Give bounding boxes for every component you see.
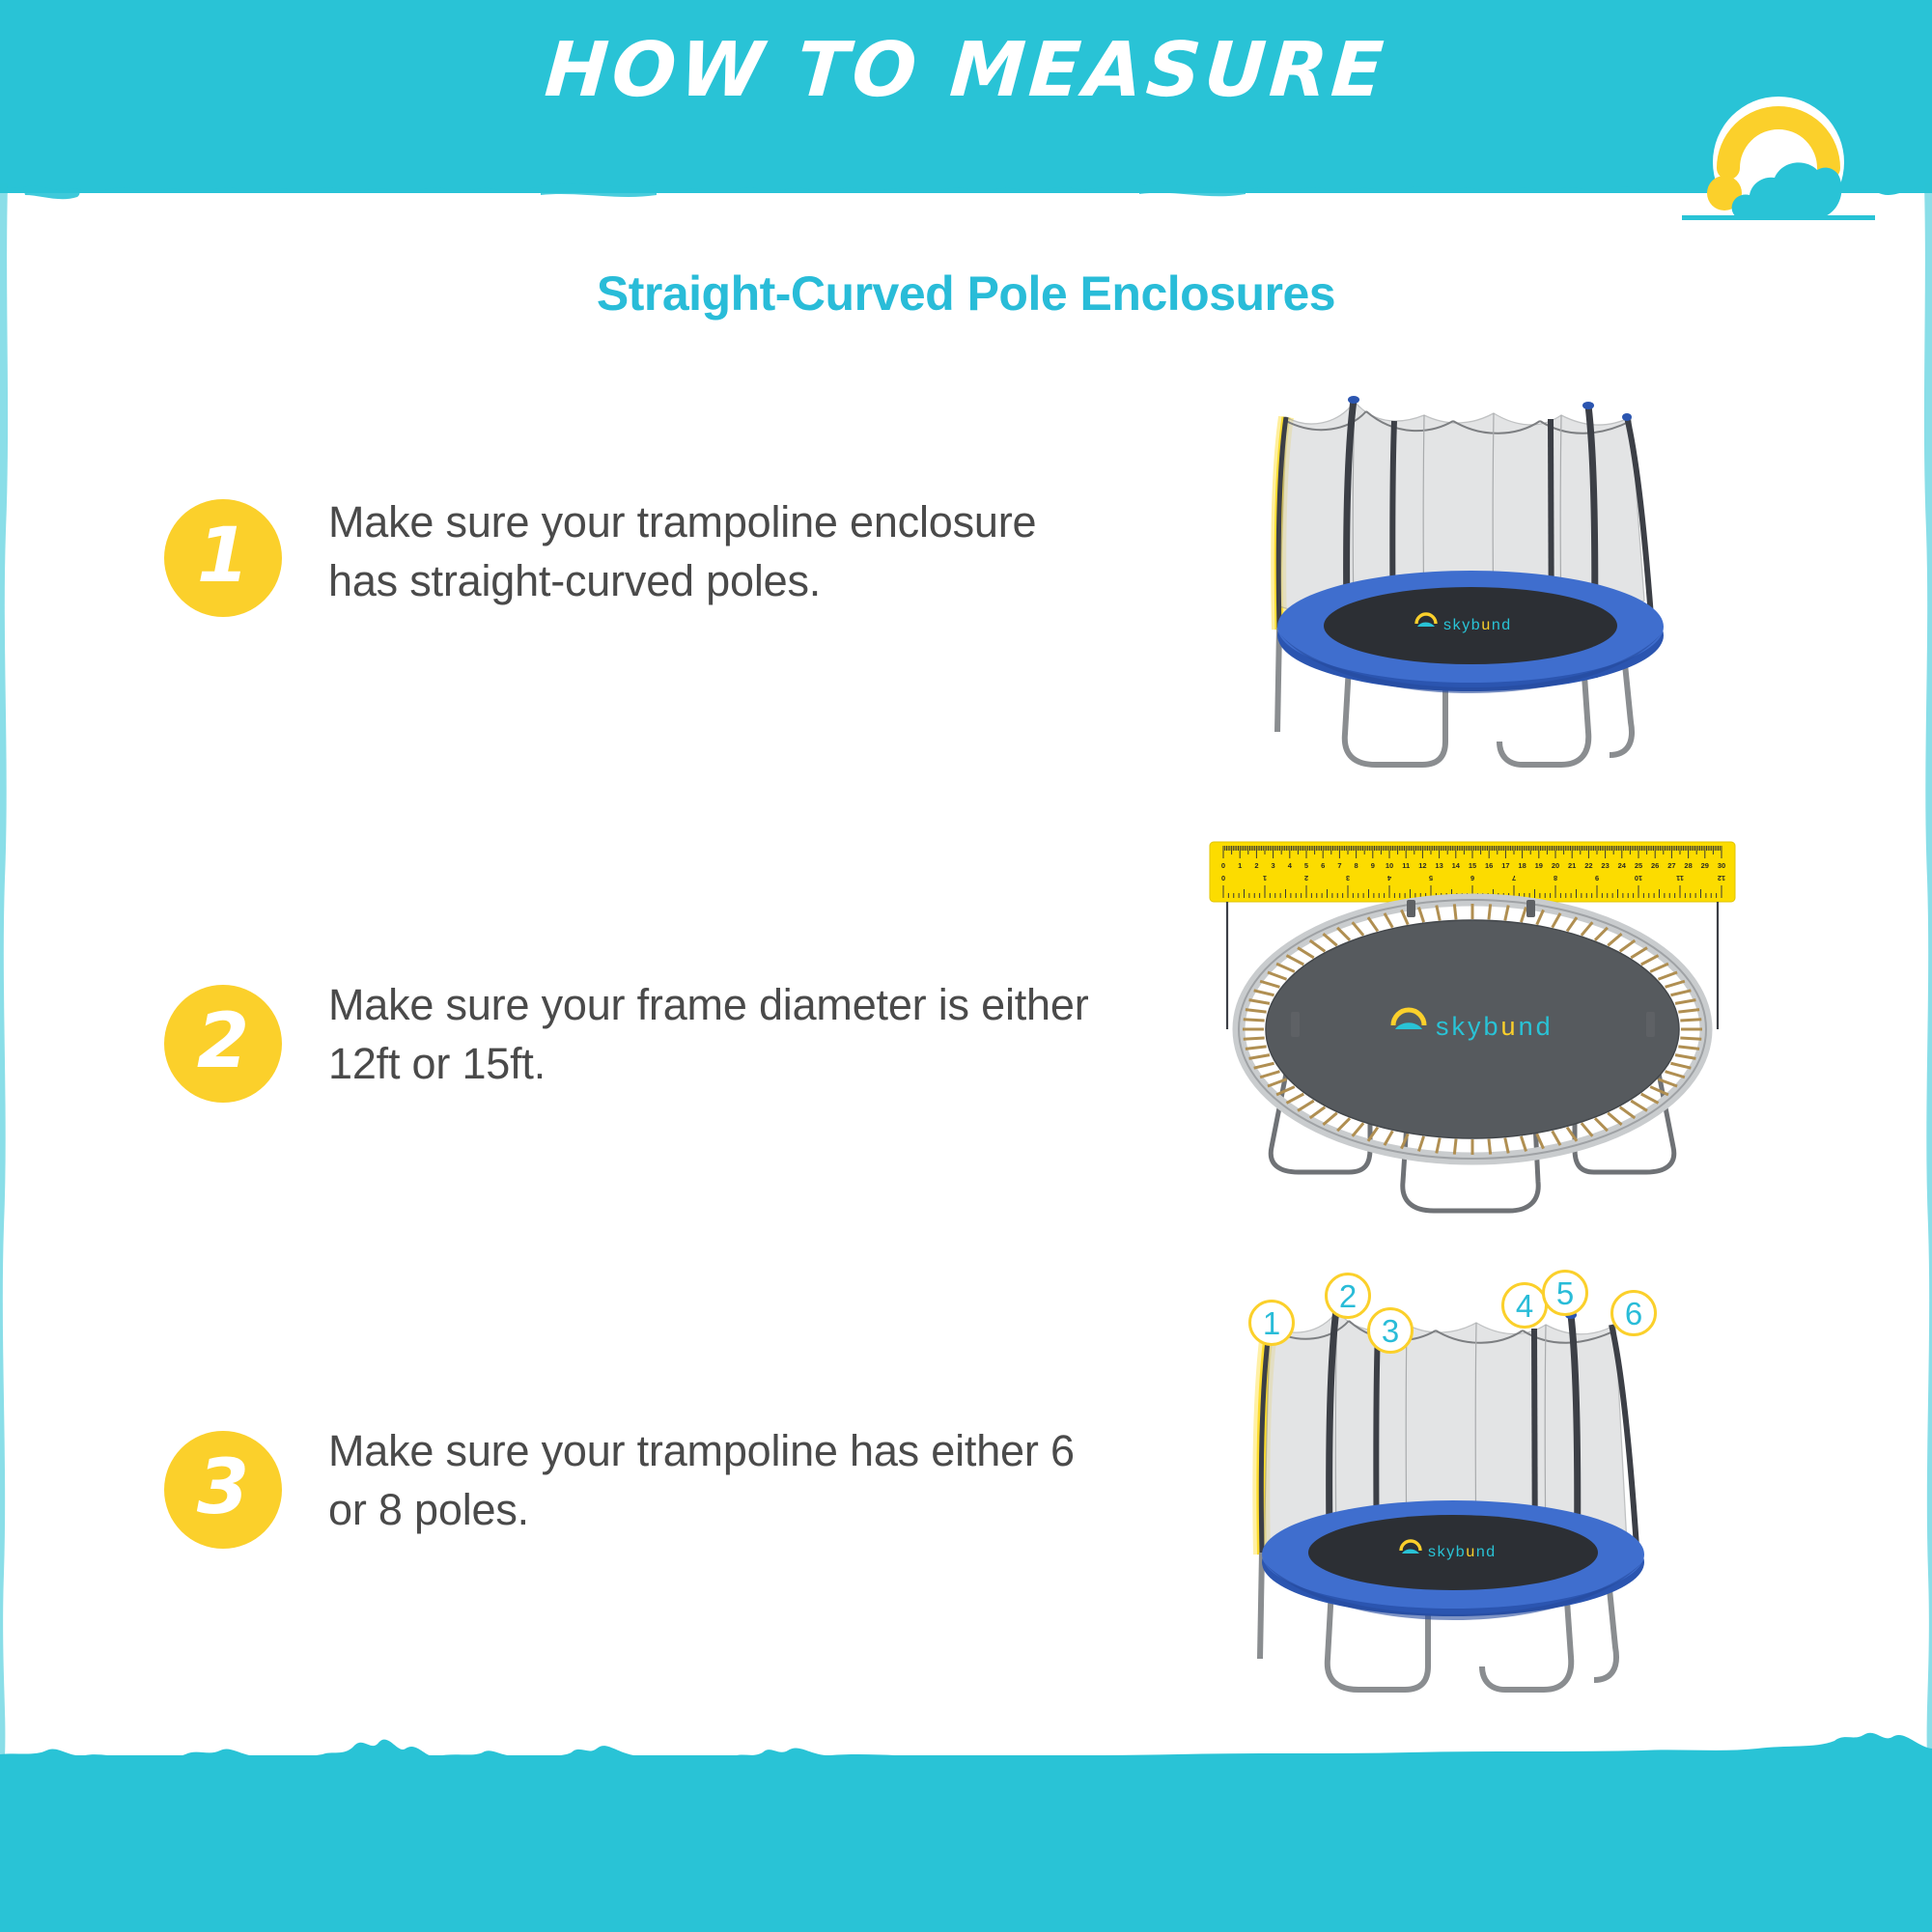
pole-marker-group: 123456 bbox=[1231, 1265, 1733, 1748]
svg-text:26: 26 bbox=[1651, 861, 1659, 870]
skybound-rainbow-cloud-logo bbox=[1682, 85, 1875, 220]
ruler-icon: 0123456789101112131415161718192021222324… bbox=[1210, 842, 1735, 902]
svg-text:7: 7 bbox=[1512, 874, 1516, 882]
step-1-text: Make sure your trampoline enclosure has … bbox=[328, 492, 1101, 610]
svg-text:21: 21 bbox=[1568, 861, 1576, 870]
step-3-badge: 3 bbox=[164, 1431, 282, 1549]
pole-marker-5: 5 bbox=[1542, 1270, 1588, 1316]
svg-text:12: 12 bbox=[1418, 861, 1426, 870]
svg-text:19: 19 bbox=[1535, 861, 1543, 870]
trampoline-enclosure-illustration: skybund bbox=[1241, 386, 1714, 811]
section-subtitle: Straight-Curved Pole Enclosures bbox=[0, 266, 1932, 322]
svg-text:5: 5 bbox=[1429, 874, 1433, 882]
svg-text:10: 10 bbox=[1386, 861, 1393, 870]
svg-text:15: 15 bbox=[1469, 861, 1476, 870]
svg-text:5: 5 bbox=[1304, 861, 1308, 870]
svg-text:28: 28 bbox=[1684, 861, 1692, 870]
svg-text:9: 9 bbox=[1595, 874, 1599, 882]
bottom-teal-band bbox=[0, 1755, 1932, 1932]
ruler-and-mat-illustration: 0123456789101112131415161718192021222324… bbox=[1202, 840, 1743, 1246]
svg-text:8: 8 bbox=[1355, 861, 1358, 870]
svg-text:22: 22 bbox=[1584, 861, 1592, 870]
svg-text:29: 29 bbox=[1701, 861, 1709, 870]
svg-text:2: 2 bbox=[1254, 861, 1258, 870]
step-2-badge: 2 bbox=[164, 985, 282, 1103]
svg-text:11: 11 bbox=[1402, 861, 1410, 870]
svg-text:skybund: skybund bbox=[1436, 1012, 1554, 1041]
pole-marker-4: 4 bbox=[1501, 1282, 1548, 1329]
svg-text:23: 23 bbox=[1601, 861, 1609, 870]
svg-text:2: 2 bbox=[1304, 874, 1308, 882]
svg-text:11: 11 bbox=[1676, 874, 1684, 882]
svg-text:1: 1 bbox=[1238, 861, 1242, 870]
svg-text:24: 24 bbox=[1618, 861, 1627, 870]
svg-text:12: 12 bbox=[1718, 874, 1725, 882]
pole-marker-3: 3 bbox=[1367, 1307, 1414, 1354]
step-3-text: Make sure your trampoline has either 6 o… bbox=[328, 1421, 1101, 1539]
svg-text:3: 3 bbox=[1346, 874, 1350, 882]
page-title: HOW TO MEASURE bbox=[0, 33, 1932, 108]
svg-text:25: 25 bbox=[1635, 861, 1642, 870]
svg-text:27: 27 bbox=[1667, 861, 1675, 870]
top-band-torn-edge bbox=[0, 172, 1932, 216]
svg-text:20: 20 bbox=[1552, 861, 1559, 870]
step-2-text: Make sure your frame diameter is either … bbox=[328, 975, 1101, 1093]
svg-text:14: 14 bbox=[1452, 861, 1461, 870]
svg-text:9: 9 bbox=[1371, 861, 1375, 870]
svg-text:0: 0 bbox=[1221, 861, 1225, 870]
svg-text:skybund: skybund bbox=[1443, 617, 1512, 633]
svg-text:10: 10 bbox=[1635, 874, 1642, 882]
svg-text:18: 18 bbox=[1518, 861, 1526, 870]
svg-text:1: 1 bbox=[1263, 874, 1267, 882]
svg-text:7: 7 bbox=[1337, 861, 1341, 870]
svg-text:6: 6 bbox=[1321, 861, 1325, 870]
pole-marker-1: 1 bbox=[1248, 1300, 1295, 1346]
svg-text:13: 13 bbox=[1435, 861, 1442, 870]
numbered-poles-illustration: skybund 123456 bbox=[1231, 1265, 1733, 1748]
right-teal-edge bbox=[1917, 183, 1932, 1757]
svg-text:0: 0 bbox=[1221, 874, 1225, 882]
svg-text:3: 3 bbox=[1272, 861, 1275, 870]
svg-text:6: 6 bbox=[1470, 874, 1474, 882]
svg-text:17: 17 bbox=[1501, 861, 1509, 870]
pole-marker-6: 6 bbox=[1610, 1290, 1657, 1336]
svg-text:8: 8 bbox=[1554, 874, 1557, 882]
left-teal-edge bbox=[0, 183, 15, 1757]
pole-marker-2: 2 bbox=[1325, 1273, 1371, 1319]
svg-text:16: 16 bbox=[1485, 861, 1493, 870]
infographic-page: HOW TO MEASURE Straight-Curved Pole Encl… bbox=[0, 0, 1932, 1932]
svg-text:30: 30 bbox=[1718, 861, 1725, 870]
step-1-badge: 1 bbox=[164, 499, 282, 617]
